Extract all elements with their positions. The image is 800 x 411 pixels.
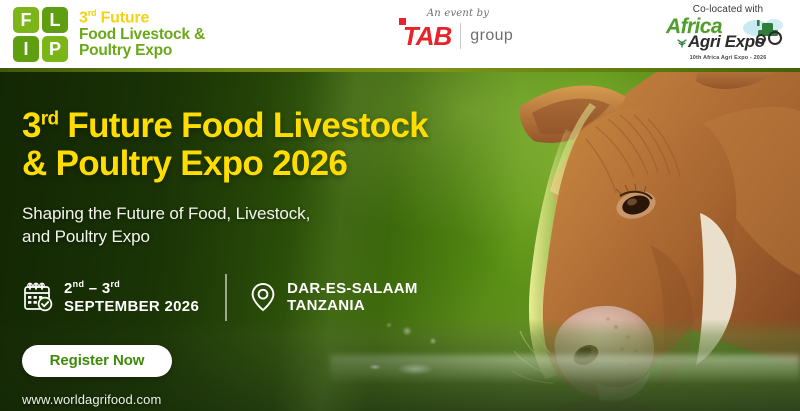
flip-cell-p: P	[42, 36, 68, 62]
event-location: DAR-ES-SALAAM TANZANIA	[249, 280, 418, 315]
flip-logo-line1: 3rd Future	[79, 9, 205, 27]
meta-divider	[225, 274, 227, 321]
website-url[interactable]: www.worldagrifood.com	[22, 392, 492, 407]
page-subtitle: Shaping the Future of Food, Livestock, a…	[22, 202, 492, 248]
hero-content: 3rd Future Food Livestock & Poultry Expo…	[22, 107, 492, 407]
colocated-with-label: Co-located with	[660, 4, 796, 15]
flip-future-word: Future	[101, 9, 150, 26]
tab-logo-row: TAB group	[393, 23, 523, 49]
headline-line1: Future Food Livestock	[58, 106, 428, 145]
hero-section: 3rd Future Food Livestock & Poultry Expo…	[0, 71, 800, 411]
event-banner: F L I P 3rd Future Food Livestock & Poul…	[0, 0, 800, 411]
headline-ordinal-number: 3	[22, 106, 41, 145]
event-date-text: 2nd – 3rd SEPTEMBER 2026	[64, 279, 199, 315]
flip-cell-l: L	[42, 7, 68, 33]
tab-wordmark: TAB	[403, 23, 452, 49]
date-dash: –	[84, 280, 102, 297]
subtitle-line1: Shaping the Future of Food, Livestock,	[22, 204, 310, 223]
date-day-from-suffix: nd	[73, 279, 85, 289]
flip-logo-text: 3rd Future Food Livestock & Poultry Expo	[77, 9, 205, 60]
flip-logo-grid: F L I P	[13, 7, 68, 62]
header-bottom-rule	[0, 68, 800, 72]
calendar-check-icon	[22, 281, 54, 313]
event-date: 2nd – 3rd SEPTEMBER 2026	[22, 279, 199, 315]
flip-logo-line2: Food Livestock &	[79, 27, 205, 44]
page-title: 3rd Future Food Livestock & Poultry Expo…	[22, 107, 492, 183]
map-pin-icon	[249, 281, 277, 313]
date-day-to-suffix: rd	[111, 279, 121, 289]
tab-group-logo[interactable]: An event by TAB group	[393, 8, 523, 49]
register-now-button[interactable]: Register Now	[22, 345, 172, 377]
event-location-text: DAR-ES-SALAAM TANZANIA	[287, 280, 418, 315]
event-by-label: An event by	[393, 8, 523, 19]
date-day-to: 3	[102, 280, 111, 297]
event-date-days: 2nd – 3rd	[64, 279, 199, 298]
date-day-from: 2	[64, 280, 73, 297]
tab-wordmark-text: TAB	[403, 21, 452, 51]
flip-ordinal-number: 3	[79, 9, 88, 26]
location-city: DAR-ES-SALAAM	[287, 280, 418, 298]
flip-cell-f: F	[13, 7, 39, 33]
flip-cell-i: I	[13, 36, 39, 62]
event-meta: 2nd – 3rd SEPTEMBER 2026 DAR-ES-SALAAM T…	[22, 274, 492, 321]
tab-accent-square	[399, 18, 406, 25]
headline-line2: & Poultry Expo 2026	[22, 145, 492, 183]
subtitle-line2: and Poultry Expo	[22, 225, 492, 248]
tractor-icon	[742, 18, 786, 46]
flip-ordinal-suffix: rd	[88, 8, 97, 18]
africa-agri-expo-logo[interactable]: Co-located with Africa Agri Expo 10th Af	[660, 4, 796, 61]
banner-header: F L I P 3rd Future Food Livestock & Poul…	[0, 0, 800, 71]
headline-ordinal-suffix: rd	[41, 108, 59, 129]
location-country: TANZANIA	[287, 297, 418, 315]
event-date-month-year: SEPTEMBER 2026	[64, 298, 199, 316]
flip-logo[interactable]: F L I P 3rd Future Food Livestock & Poul…	[13, 7, 205, 62]
africa-agri-expo-mark: Africa Agri Expo	[660, 16, 796, 56]
flip-logo-line3: Poultry Expo	[79, 43, 205, 60]
tab-divider	[460, 23, 461, 49]
wheat-leaf-icon	[676, 38, 688, 48]
tab-group-word: group	[470, 27, 513, 45]
